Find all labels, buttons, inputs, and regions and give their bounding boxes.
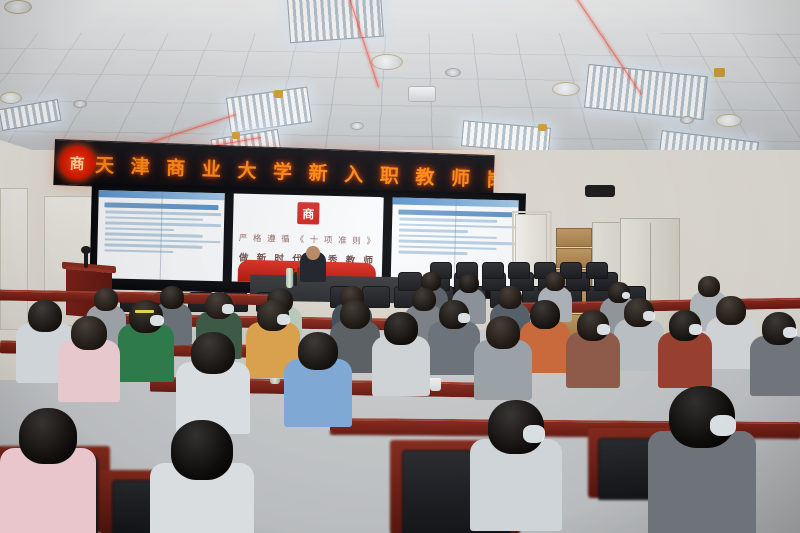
face-mask [150,315,164,326]
audience-person [470,400,562,533]
ceiling-amber-lamp [538,124,547,131]
hair-clip [135,310,154,313]
person-head [191,332,235,374]
audience-person [372,312,430,405]
person-head [698,276,720,297]
university-seal-icon: 商 [59,145,96,180]
ceiling-downlight [716,114,742,127]
ceiling-troffer-light [286,0,384,43]
slide-text-line [105,210,221,215]
slide-text-line [399,229,468,233]
smoke-detector [73,100,87,108]
face-mask [783,327,797,338]
slide-logo-glyph: 商 [302,205,314,222]
person-head [19,408,77,464]
slide-text-line [399,234,497,239]
slide-text-line [105,216,203,221]
slide-text-line [105,227,174,231]
smoke-detector [445,68,461,77]
slide-text-line [104,243,202,248]
slide-text-line [399,245,497,250]
slide-text-line [104,249,173,253]
slide-text-line [399,218,497,223]
audience-person [0,408,96,533]
person-head [71,316,107,350]
person-head [498,286,522,309]
ceiling-amber-lamp [232,132,240,139]
person-head [340,300,370,329]
person-head [28,300,62,332]
audience-person [150,420,254,533]
audience-person [706,296,756,377]
audience-person [58,316,120,412]
face-mask [277,314,290,325]
face-mask [689,324,702,335]
audience-person [284,332,352,438]
smoke-detector [680,116,694,124]
face-mask [710,415,736,436]
audience-person [648,386,756,533]
ceiling-downlight [4,0,32,14]
lecture-hall-photo: 商 天 津 商 业 大 学 新 入 职 教 师 岗 前 培 训 商 严 格 遵 … [0,0,800,533]
seated-speaker-head [306,246,320,260]
face-mask [458,313,470,323]
person-head [94,288,118,311]
audience-person [474,316,532,409]
slide-text-line [399,223,515,228]
person-head [716,296,746,325]
microphone-head [81,246,91,254]
person-head [545,272,565,291]
person-head [486,316,520,349]
audience-person [118,300,174,391]
slide-line-1: 严 格 遵 循 《 十 项 准 则 》 [233,231,383,247]
ceiling-downlight [371,54,403,70]
person-head [459,274,479,293]
slide-text-line [398,251,467,255]
slide-logo-icon: 商 [297,202,320,225]
slide-text-line [105,232,203,237]
audience-person [566,310,620,397]
slide-text-line [105,238,221,243]
audience-person [614,298,664,379]
ceiling-downlight [0,92,22,104]
ceiling-downlight [552,82,580,96]
smoke-detector [350,122,364,130]
person-head [530,300,560,329]
chair-back [508,262,530,279]
person-head [298,332,338,370]
wall-duct [585,185,615,197]
table-microphone [294,272,297,286]
ceiling-amber-lamp [714,68,725,77]
ceiling-speaker [408,86,436,102]
ceiling-amber-lamp [274,90,283,98]
chair-back [586,262,608,279]
face-mask [523,425,545,443]
audience-person [658,310,712,397]
audience-person [428,300,480,383]
person-head [171,420,233,480]
slide-text-line [105,221,221,226]
face-mask [643,311,655,321]
slide-text-line [399,240,515,245]
face-mask [597,324,610,335]
cardboard-box [556,228,592,247]
seal-glyph: 商 [69,152,85,174]
water-bottle [286,268,293,288]
audience-person [750,312,800,405]
face-mask [222,304,233,313]
person-head [384,312,418,345]
